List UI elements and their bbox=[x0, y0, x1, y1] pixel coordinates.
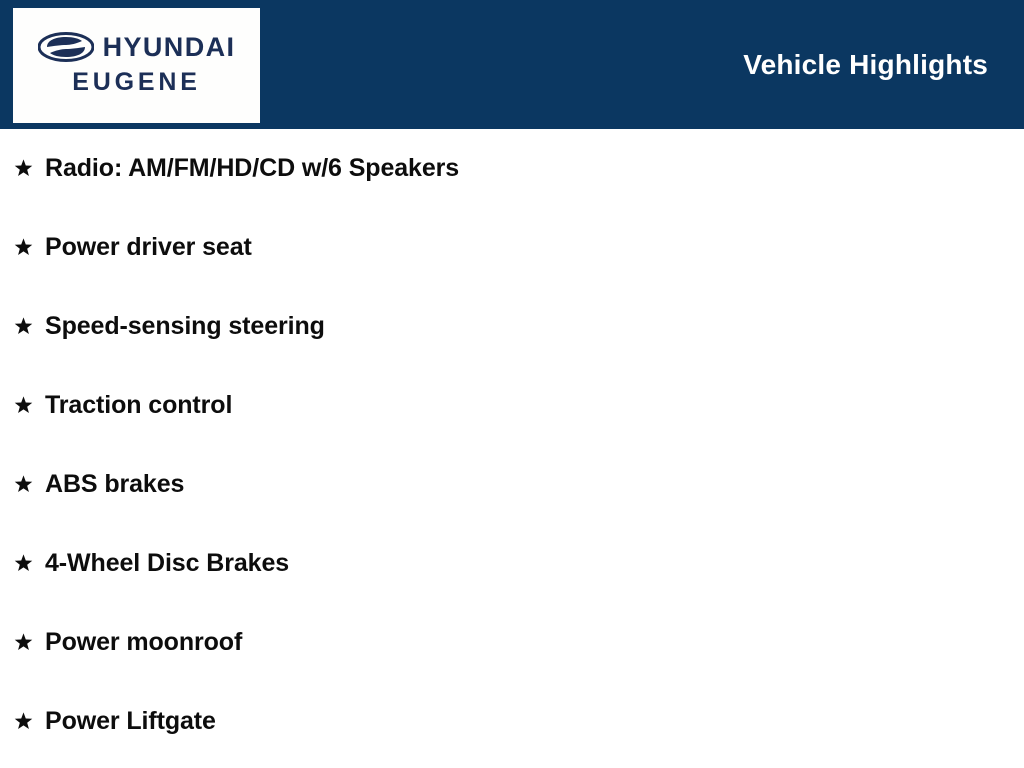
highlight-label: Traction control bbox=[45, 393, 232, 418]
list-item: Power Liftgate bbox=[0, 682, 1024, 761]
logo-primary-row: HYUNDAI bbox=[38, 32, 236, 62]
star-icon bbox=[13, 395, 34, 416]
logo-brand-text: HYUNDAI bbox=[103, 34, 236, 61]
hyundai-oval-h-logo-icon bbox=[38, 32, 94, 62]
list-item: Power driver seat bbox=[0, 208, 1024, 287]
highlight-label: ABS brakes bbox=[45, 472, 184, 497]
list-item: Power moonroof bbox=[0, 603, 1024, 682]
list-item: Traction control bbox=[0, 366, 1024, 445]
highlight-label: Speed-sensing steering bbox=[45, 314, 325, 339]
page-header: HYUNDAI EUGENE Vehicle Highlights bbox=[0, 0, 1024, 129]
highlight-label: Radio: AM/FM/HD/CD w/6 Speakers bbox=[45, 156, 459, 181]
highlight-label: 4-Wheel Disc Brakes bbox=[45, 551, 289, 576]
star-icon bbox=[13, 553, 34, 574]
star-icon bbox=[13, 237, 34, 258]
list-item: ABS brakes bbox=[0, 445, 1024, 524]
list-item: 4-Wheel Disc Brakes bbox=[0, 524, 1024, 603]
vehicle-highlights-list: Radio: AM/FM/HD/CD w/6 SpeakersPower dri… bbox=[0, 129, 1024, 761]
page-title: Vehicle Highlights bbox=[743, 0, 988, 129]
highlight-label: Power Liftgate bbox=[45, 709, 216, 734]
list-item: Radio: AM/FM/HD/CD w/6 Speakers bbox=[0, 129, 1024, 208]
star-icon bbox=[13, 474, 34, 495]
star-icon bbox=[13, 711, 34, 732]
vehicle-highlights-page: HYUNDAI EUGENE Vehicle Highlights Radio:… bbox=[0, 0, 1024, 768]
highlight-label: Power driver seat bbox=[45, 235, 252, 260]
star-icon bbox=[13, 316, 34, 337]
list-item: Speed-sensing steering bbox=[0, 287, 1024, 366]
dealer-logo[interactable]: HYUNDAI EUGENE bbox=[13, 8, 260, 123]
highlight-label: Power moonroof bbox=[45, 630, 242, 655]
star-icon bbox=[13, 158, 34, 179]
logo-location-text: EUGENE bbox=[72, 70, 200, 95]
star-icon bbox=[13, 632, 34, 653]
